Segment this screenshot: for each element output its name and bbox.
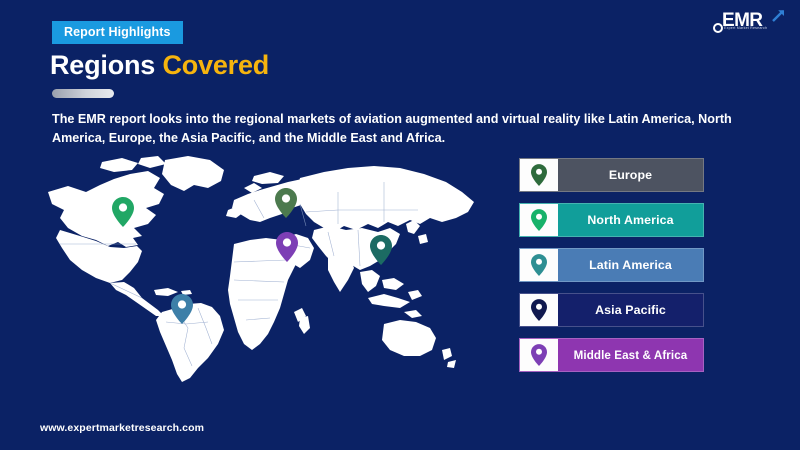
landmasses <box>48 156 474 382</box>
legend-label: Europe <box>558 159 703 191</box>
region-legend: Europe North America Latin America <box>519 158 704 383</box>
page-title-accent: Covered <box>162 50 269 80</box>
map-pin-icon <box>370 235 392 265</box>
map-pin-icon <box>531 254 547 276</box>
legend-label: Latin America <box>558 249 703 281</box>
report-highlights-badge: Report Highlights <box>52 21 183 44</box>
map-pin-icon <box>531 164 547 186</box>
title-underline-bar <box>52 89 114 98</box>
logo-tagline: Expert Market Research <box>724 26 767 30</box>
intro-paragraph: The EMR report looks into the regional m… <box>52 110 758 148</box>
world-map <box>38 152 504 384</box>
legend-label: Middle East & Africa <box>558 339 703 371</box>
legend-label: North America <box>558 204 703 236</box>
page-title: Regions Covered <box>50 50 269 81</box>
map-pin-icon <box>531 344 547 366</box>
map-pin-icon <box>276 232 298 262</box>
emr-logo[interactable]: EMR Expert Market Research <box>708 8 788 42</box>
legend-pin-box <box>520 339 558 371</box>
world-map-svg <box>38 152 504 384</box>
legend-label: Asia Pacific <box>558 294 703 326</box>
growth-arrow-icon <box>770 8 786 24</box>
legend-row-north-america[interactable]: North America <box>519 203 704 237</box>
legend-pin-box <box>520 249 558 281</box>
map-pin-icon <box>531 209 547 231</box>
legend-pin-box <box>520 294 558 326</box>
page-title-primary: Regions <box>50 50 155 80</box>
legend-row-europe[interactable]: Europe <box>519 158 704 192</box>
legend-pin-box <box>520 159 558 191</box>
map-pin-icon <box>531 299 547 321</box>
legend-row-latin-america[interactable]: Latin America <box>519 248 704 282</box>
slide-canvas: Report Highlights Regions Covered The EM… <box>0 0 800 450</box>
map-pin-icon <box>171 294 193 324</box>
legend-row-middle-east-africa[interactable]: Middle East & Africa <box>519 338 704 372</box>
legend-pin-box <box>520 204 558 236</box>
legend-row-asia-pacific[interactable]: Asia Pacific <box>519 293 704 327</box>
footer-url[interactable]: www.expertmarketresearch.com <box>40 422 204 434</box>
map-pin-icon <box>112 197 134 227</box>
map-pin-icon <box>275 188 297 218</box>
